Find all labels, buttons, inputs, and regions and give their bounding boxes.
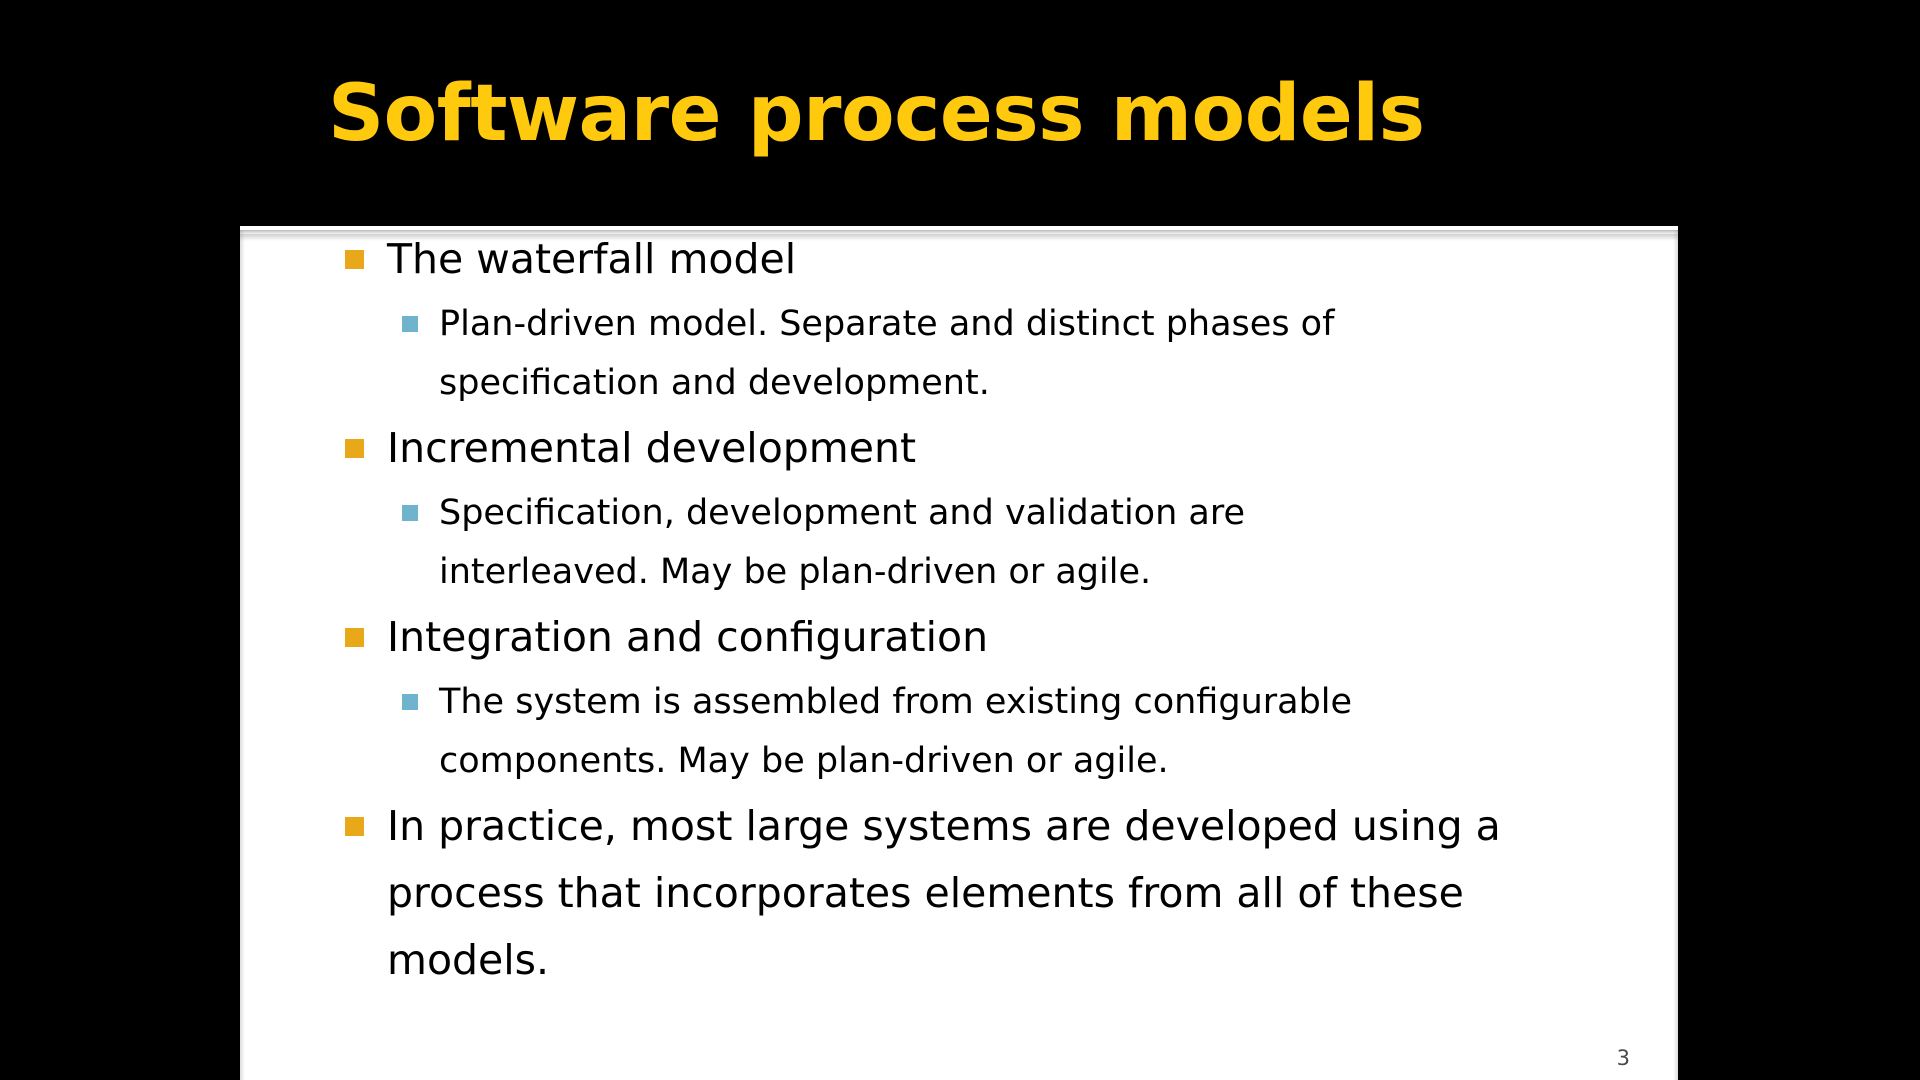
square-bullet-icon <box>345 628 364 647</box>
bullet-item-level-2: Plan-driven model. Separate and distinct… <box>240 295 1678 413</box>
bullet-text: In practice, most large systems are deve… <box>387 793 1567 994</box>
slide-canvas: Software process models The waterfall mo… <box>0 0 1920 1080</box>
bullet-item-level-2: The system is assembled from existing co… <box>240 673 1678 791</box>
bullet-list: The waterfall modelPlan-driven model. Se… <box>240 226 1678 996</box>
bullet-text: Incremental development <box>387 415 1567 482</box>
page-number: 3 <box>1617 1046 1630 1070</box>
bullet-text: Specification, development and validatio… <box>439 484 1449 602</box>
square-bullet-icon <box>402 316 418 332</box>
square-bullet-icon <box>402 505 418 521</box>
bullet-text: The waterfall model <box>387 226 1567 293</box>
bullet-item-level-1: Integration and configuration <box>240 604 1678 671</box>
bullet-item-level-1: The waterfall model <box>240 226 1678 293</box>
bullet-item-level-2: Specification, development and validatio… <box>240 484 1678 602</box>
square-bullet-icon <box>345 817 364 836</box>
slide-content-panel: The waterfall modelPlan-driven model. Se… <box>240 226 1678 1080</box>
bullet-text: Integration and configuration <box>387 604 1567 671</box>
square-bullet-icon <box>345 250 364 269</box>
square-bullet-icon <box>402 694 418 710</box>
bullet-text: Plan-driven model. Separate and distinct… <box>439 295 1449 413</box>
page-title: Software process models <box>328 62 1628 172</box>
bullet-item-level-1: Incremental development <box>240 415 1678 482</box>
bullet-item-level-1: In practice, most large systems are deve… <box>240 793 1678 994</box>
square-bullet-icon <box>345 439 364 458</box>
bullet-text: The system is assembled from existing co… <box>439 673 1449 791</box>
